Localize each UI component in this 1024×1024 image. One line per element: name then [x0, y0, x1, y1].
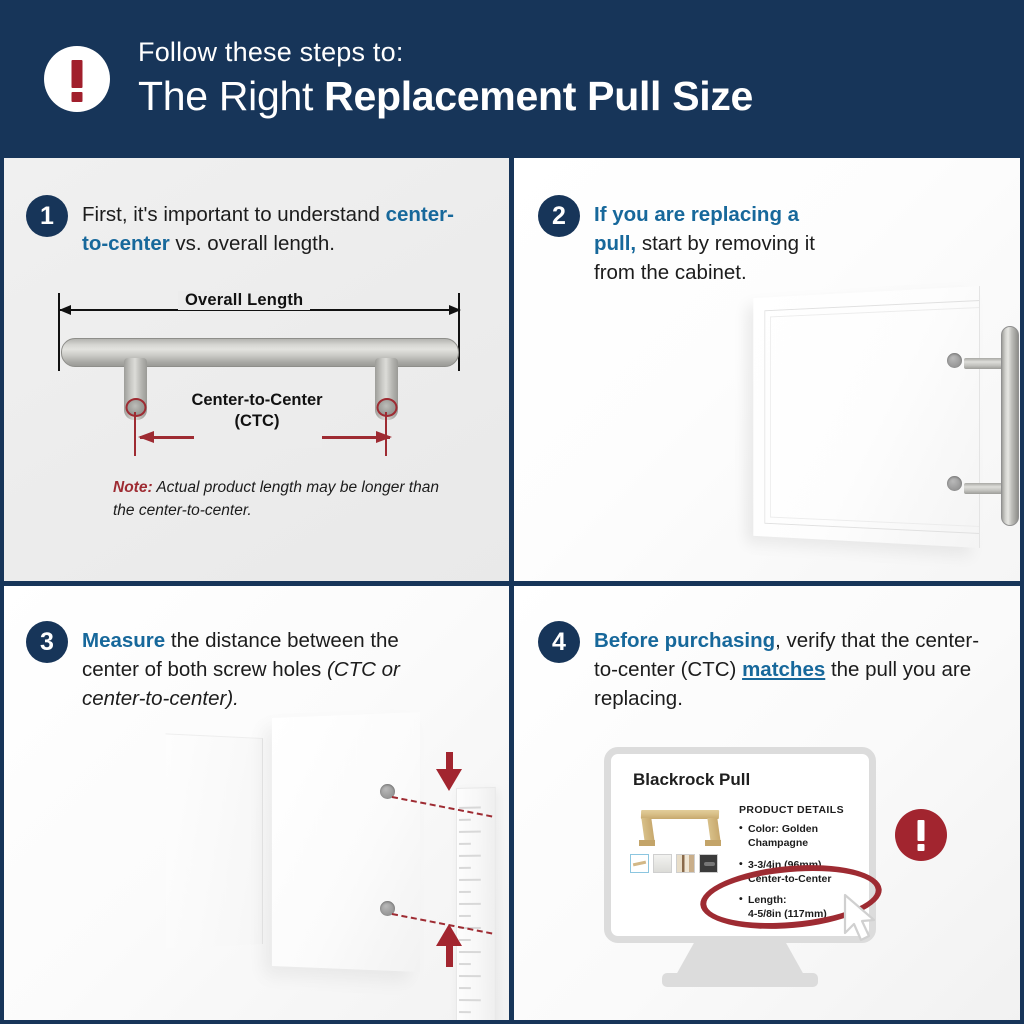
- ctc-label-line1: Center-to-Center: [152, 390, 362, 411]
- title-light-part: The Right: [138, 73, 324, 119]
- step-4-accent: Before purchasing: [594, 629, 775, 652]
- step-3-heading: 3 Measure the distance between the cente…: [26, 621, 456, 713]
- step-1-panel: 1 First, it's important to understand ce…: [0, 158, 512, 584]
- pull-post-left: [124, 358, 147, 420]
- infographic-page: Follow these steps to: The Right Replace…: [0, 0, 1024, 1024]
- step-3-panel: 3 Measure the distance between the cente…: [0, 584, 512, 1024]
- step-2-heading: 2 If you are replacing a pull, start by …: [538, 195, 838, 287]
- border-right: [1020, 158, 1024, 1024]
- ctc-guide-left: [134, 412, 136, 456]
- step-4-text: Before purchasing, verify that the cente…: [594, 621, 988, 713]
- screw-hole-top: [947, 353, 962, 368]
- step-2-panel: 2 If you are replacing a pull, start by …: [512, 158, 1024, 584]
- cabinet-door-front: [272, 712, 420, 972]
- step-1-text-part2: vs. overall length.: [170, 232, 335, 255]
- pull-bar-graphic: [61, 338, 459, 367]
- detail-item-color: Color: Golden Champagne: [739, 823, 871, 851]
- product-details-heading: PRODUCT DETAILS: [739, 804, 871, 816]
- thumbnail-4[interactable]: [699, 854, 718, 873]
- product-thumbnails[interactable]: [630, 854, 718, 873]
- ctc-label-line2: (CTC): [152, 411, 362, 432]
- step-1-number: 1: [26, 195, 68, 237]
- detail-color-line2: Champagne: [748, 837, 871, 851]
- pull-post-right: [375, 358, 398, 420]
- note-label: Note:: [113, 479, 153, 496]
- product-title: Blackrock Pull: [633, 770, 750, 790]
- vertical-divider: [509, 158, 514, 1024]
- step-4-panel: 4 Before purchasing, verify that the cen…: [512, 584, 1024, 1024]
- step-3-number: 3: [26, 621, 68, 663]
- thumbnail-1[interactable]: [630, 854, 649, 873]
- exclamation-icon: [44, 46, 110, 112]
- cabinet-door-illustration: [602, 278, 1022, 578]
- monitor-neck: [676, 943, 804, 975]
- step-2-number: 2: [538, 195, 580, 237]
- page-header: Follow these steps to: The Right Replace…: [0, 0, 1024, 158]
- step-3-accent: Measure: [82, 629, 165, 652]
- monitor-base: [662, 973, 818, 987]
- title-bold-part: Replacement Pull Size: [324, 73, 753, 119]
- detail-color-line1: Color: Golden: [748, 823, 871, 837]
- screw-hole-bottom: [947, 476, 962, 491]
- step-2-text: If you are replacing a pull, start by re…: [594, 195, 838, 287]
- monitor-illustration: Blackrock Pull PRODUCT DETAILS: [604, 747, 876, 987]
- pull-measurement-diagram: Overall Length Center-to-Center (CTC): [44, 300, 474, 470]
- ruler-graphic: [456, 787, 496, 1024]
- step-4-number: 4: [538, 621, 580, 663]
- pull-bar-vertical: [1001, 326, 1019, 526]
- border-bottom: [0, 1020, 1024, 1024]
- pull-post-bottom: [964, 483, 1004, 494]
- exclamation-badge-icon: [895, 809, 947, 861]
- step-1-heading: 1 First, it's important to understand ce…: [26, 195, 456, 258]
- measure-illustration: [80, 712, 512, 1024]
- step-1-text-part1: First, it's important to understand: [82, 203, 386, 226]
- page-title: The Right Replacement Pull Size: [138, 74, 753, 120]
- note-text: Actual product length may be longer than…: [113, 479, 439, 519]
- border-left: [0, 158, 4, 1024]
- overall-length-label: Overall Length: [178, 291, 310, 310]
- cabinet-door-side: [166, 733, 263, 948]
- product-image: [633, 802, 725, 848]
- step-1-text: First, it's important to understand cent…: [82, 195, 456, 258]
- step-1-note: Note: Actual product length may be longe…: [113, 476, 453, 523]
- thumbnail-2[interactable]: [653, 854, 672, 873]
- cabinet-door-face: [753, 286, 980, 548]
- header-kicker: Follow these steps to:: [138, 38, 753, 68]
- ctc-label: Center-to-Center (CTC): [152, 390, 362, 432]
- matches-link[interactable]: matches: [742, 658, 825, 681]
- thumbnail-3[interactable]: [676, 854, 695, 873]
- horizontal-divider: [0, 581, 1024, 586]
- pull-post-top: [964, 358, 1004, 369]
- step-3-text: Measure the distance between the center …: [82, 621, 456, 713]
- header-text-block: Follow these steps to: The Right Replace…: [138, 38, 753, 120]
- mouse-pointer-icon: [841, 893, 883, 945]
- step-4-heading: 4 Before purchasing, verify that the cen…: [538, 621, 988, 713]
